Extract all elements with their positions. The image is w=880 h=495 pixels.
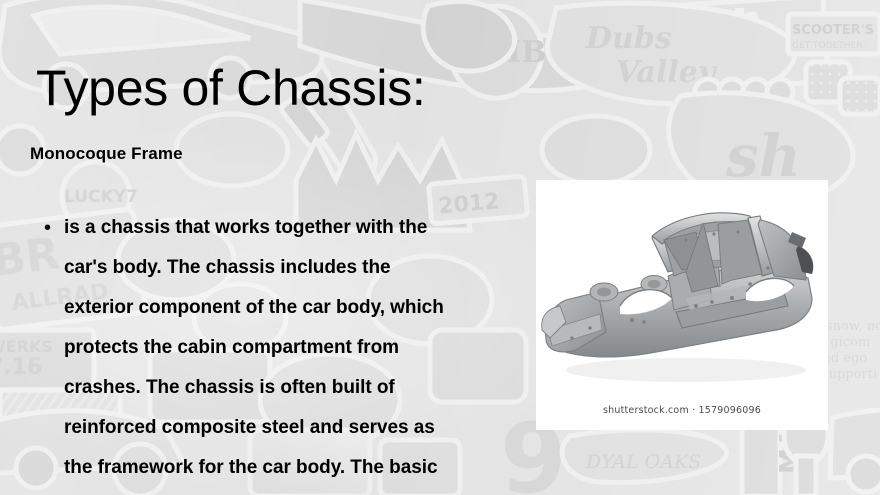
svg-text:DYAL OAKS: DYAL OAKS — [585, 451, 701, 473]
body-paragraph: is a chassis that works together with th… — [40, 208, 510, 495]
svg-text:GET TOGETHER: GET TOGETHER — [792, 41, 862, 51]
body-line: exterior component of the car body, whic… — [64, 288, 510, 328]
bullet-list-item: • is a chassis that works together with … — [40, 208, 510, 495]
slide-subtitle: Monocoque Frame — [30, 144, 183, 164]
image-credit-watermark: shutterstock.com · 1579096096 — [536, 405, 828, 416]
body-line: crashes. The chassis is often built of — [64, 368, 510, 408]
body-line: criteria for chassis material is that it… — [64, 488, 510, 495]
body-content: • is a chassis that works together with … — [40, 208, 510, 495]
body-line: reinforced composite steel and serves as — [64, 408, 510, 448]
body-line: the framework for the car body. The basi… — [64, 448, 510, 488]
body-line: protects the cabin compartment from — [64, 328, 510, 368]
svg-text:supporti: supporti — [822, 367, 877, 382]
car-monocoque-body-shell-photo — [536, 180, 828, 402]
presentation-slide: hospanic disorder of the DMB Dubs Valley… — [0, 0, 880, 495]
body-line: car's body. The chassis includes the — [64, 248, 510, 288]
bullet-point-icon: • — [44, 210, 51, 246]
page-title: Types of Chassis: — [36, 62, 426, 114]
body-line: is a chassis that works together with th… — [64, 208, 510, 248]
svg-text:snow, no: snow, no — [826, 319, 880, 334]
svg-text:LUCKY7: LUCKY7 — [64, 187, 138, 207]
svg-text:Dubs: Dubs — [585, 21, 672, 56]
svg-text:7.16: 7.16 — [0, 355, 42, 380]
svg-text:SCOOTER'S: SCOOTER'S — [792, 23, 874, 38]
slide-image-card: shutterstock.com · 1579096096 — [536, 180, 828, 430]
